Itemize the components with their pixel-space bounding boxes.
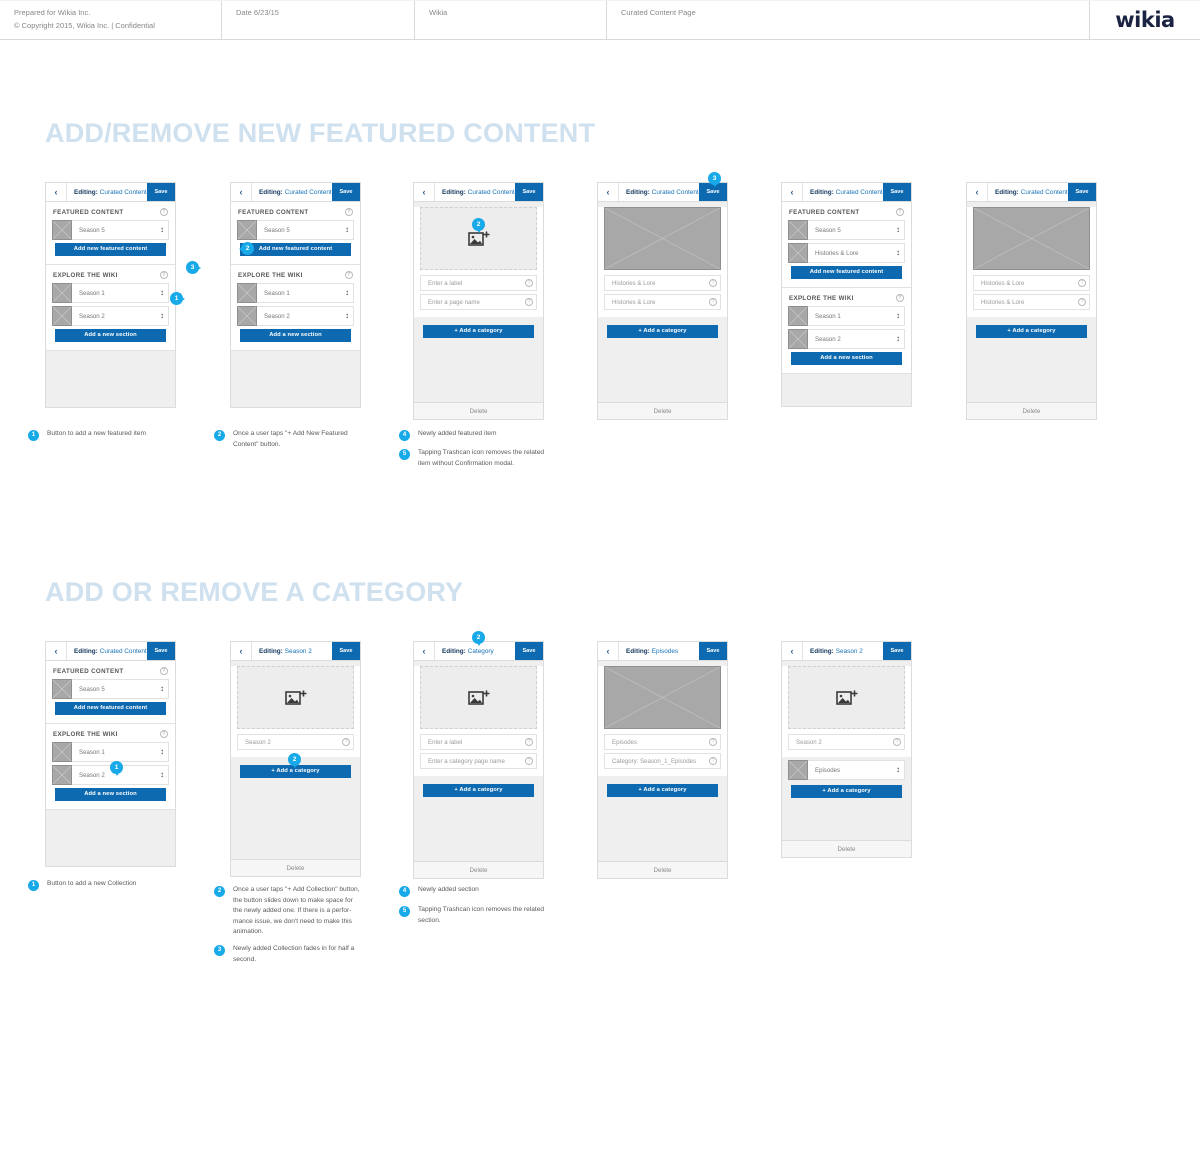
panel-heading-label: EXPLORE THE WIKI — [238, 272, 303, 279]
thumbnail-placeholder-icon — [52, 765, 72, 785]
thumbnail-placeholder-icon — [237, 306, 257, 326]
panel-heading-explore: EXPLORE THE WIKI ? — [782, 288, 911, 306]
annotation-number: 4 — [399, 886, 410, 897]
page-name-input[interactable]: Histories & Lore ? — [973, 294, 1090, 310]
editing-target: Category — [468, 648, 494, 655]
image-upload-placeholder[interactable] — [237, 666, 354, 729]
label-input[interactable]: Enter a label ? — [420, 734, 537, 750]
editing-target: Curated Content — [285, 189, 332, 196]
editing-target: Curated Content — [100, 189, 147, 196]
question-mark-icon[interactable]: ? — [1078, 298, 1086, 306]
delete-button[interactable]: Delete — [414, 861, 543, 878]
header-date-cell: Date 6/23/15 — [222, 1, 415, 39]
editing-prefix: Editing: — [74, 189, 98, 196]
page-name-input[interactable]: Enter a page name ? — [420, 294, 537, 310]
add-new-section-button[interactable]: Add a new section — [791, 352, 902, 365]
nav-title: Editing: Curated Content — [67, 642, 147, 660]
document-header: Prepared for Wikia Inc. © Copyright 2015… — [0, 0, 1200, 40]
header-page-cell: Curated Content Page — [607, 1, 1090, 39]
panel-heading-label: FEATURED CONTENT — [53, 209, 123, 216]
save-button[interactable]: Save — [1068, 183, 1096, 201]
question-mark-icon[interactable]: ? — [709, 298, 717, 306]
label-input[interactable]: Season 2 ? — [788, 734, 905, 750]
list-item-label: Season 2 — [72, 313, 156, 320]
list-item-label: Season 5 — [72, 686, 156, 693]
phone-navbar: ‹ Editing: Curated Content Save — [231, 183, 360, 202]
save-button[interactable]: Save — [883, 642, 911, 660]
thumbnail-placeholder-icon — [52, 679, 72, 699]
phone-mockup-9: ‹ Editing: Category Save Enter a label ?… — [413, 641, 544, 879]
back-chevron-icon[interactable]: ‹ — [598, 642, 619, 660]
list-item-label: Season 5 — [257, 227, 341, 234]
editing-target: Curated Content — [1021, 189, 1068, 196]
category-page-name-placeholder: Enter a category page name — [421, 758, 522, 765]
delete-button[interactable]: Delete — [782, 840, 911, 857]
empty-area — [967, 340, 1096, 402]
list-item[interactable]: Season 1 ↕ — [237, 283, 354, 303]
back-chevron-icon[interactable]: ‹ — [414, 642, 435, 660]
drag-handle-icon[interactable]: ↕ — [341, 226, 353, 234]
thumbnail-placeholder-icon — [788, 760, 808, 780]
prepared-for-text: Prepared for Wikia Inc. — [14, 7, 213, 20]
editing-target: Episodes — [652, 648, 678, 655]
editing-target: Season 2 — [836, 648, 863, 655]
phone-mockup-5: ‹ Editing: Curated Content Save FEATURED… — [781, 182, 912, 407]
category-page-name-input[interactable]: Enter a category page name ? — [420, 753, 537, 769]
section-title-add-remove-category: ADD OR REMOVE A CATEGORY — [45, 577, 463, 608]
thumbnail-placeholder-icon — [788, 220, 808, 240]
explore-wiki-panel: EXPLORE THE WIKI ? Season 1 ↕ Season 2 ↕… — [46, 265, 175, 351]
phone-navbar: ‹ Editing: Curated Content Save — [598, 183, 727, 202]
back-chevron-icon[interactable]: ‹ — [598, 183, 619, 201]
page-name-input-value: Histories & Lore — [605, 299, 706, 306]
phone-mockup-4: ‹ Editing: Curated Content Save Historie… — [597, 182, 728, 420]
featured-content-panel: FEATURED CONTENT ? Season 5 ↕ Add new fe… — [231, 202, 360, 265]
phone-navbar: ‹ Editing: Episodes Save — [598, 642, 727, 661]
thumbnail-placeholder-icon — [237, 283, 257, 303]
nav-title: Editing: Curated Content — [252, 183, 332, 201]
panel-heading-label: EXPLORE THE WIKI — [53, 272, 118, 279]
list-item-label: Season 1 — [72, 290, 156, 297]
empty-area — [231, 351, 360, 407]
editing-prefix: Editing: — [442, 189, 466, 196]
phone-navbar: ‹ Editing: Curated Content Save — [414, 183, 543, 202]
annotation-note-4: 4 Newly added section — [399, 885, 549, 897]
question-mark-icon[interactable]: ? — [896, 208, 904, 216]
save-button[interactable]: Save — [332, 183, 360, 201]
thumbnail-placeholder-icon — [52, 220, 72, 240]
save-button[interactable]: Save — [147, 642, 175, 660]
delete-button[interactable]: Delete — [414, 402, 543, 419]
back-chevron-icon[interactable]: ‹ — [231, 183, 252, 201]
annotation-number: 5 — [399, 449, 410, 460]
question-mark-icon[interactable]: ? — [160, 730, 168, 738]
drag-handle-icon[interactable]: ↕ — [156, 289, 168, 297]
question-mark-icon[interactable]: ? — [525, 279, 533, 287]
annotation-note-5: 5 Tapping Trashcan icon removes the rela… — [399, 448, 554, 469]
drag-handle-icon[interactable]: ↕ — [156, 685, 168, 693]
image-preview[interactable] — [973, 207, 1090, 270]
editing-prefix: Editing: — [442, 648, 466, 655]
list-item[interactable]: Season 1 ↕ — [52, 742, 169, 762]
editing-target: Season 2 — [285, 648, 312, 655]
drag-handle-icon[interactable]: ↕ — [892, 226, 904, 234]
list-item-label: Season 2 — [257, 313, 341, 320]
thumbnail-placeholder-icon — [788, 306, 808, 326]
page-name-input-placeholder: Enter a page name — [421, 299, 522, 306]
annotation-text: Tapping Trashcan icon removes the relate… — [410, 448, 554, 469]
drag-handle-icon[interactable]: ↕ — [156, 226, 168, 234]
annotation-note-5: 5 Tapping Trashcan icon removes the rela… — [399, 905, 554, 926]
callout-marker-1: 1 — [170, 292, 183, 305]
nav-title: Editing: Curated Content — [988, 183, 1068, 201]
question-mark-icon[interactable]: ? — [342, 738, 350, 746]
callout-marker-2: 2 — [241, 242, 254, 255]
annotation-note-2: 2 Once a user taps "+ Add Collection" bu… — [214, 885, 360, 938]
category-page-name-value: Category: Season_1_Episodes — [605, 758, 706, 765]
nav-title: Editing: Season 2 — [252, 642, 332, 660]
page-title-text: Curated Content Page — [621, 7, 1081, 20]
label-input-value: Episodes — [605, 739, 706, 746]
annotation-text: Newly added section — [410, 885, 479, 896]
annotation-note-1: 1 Button to add a new featured item — [28, 429, 208, 441]
label-input-value: Histories & Lore — [974, 280, 1075, 287]
annotation-text: Newly added Collection fades in for half… — [225, 944, 360, 965]
label-input[interactable]: Histories & Lore ? — [604, 275, 721, 291]
empty-area — [414, 799, 543, 861]
add-category-button[interactable]: + Add a category — [423, 784, 534, 797]
callout-marker-2: 2 — [288, 753, 301, 766]
question-mark-icon[interactable]: ? — [525, 757, 533, 765]
label-input[interactable]: Histories & Lore ? — [973, 275, 1090, 291]
label-input-placeholder: Enter a label — [421, 739, 522, 746]
editing-prefix: Editing: — [810, 189, 834, 196]
back-chevron-icon[interactable]: ‹ — [967, 183, 988, 201]
image-upload-placeholder[interactable] — [420, 666, 537, 729]
annotation-number: 1 — [28, 430, 39, 441]
client-text: Wikia — [429, 7, 598, 20]
list-item[interactable]: Season 5 ↕ — [237, 220, 354, 240]
list-item-label: Episodes — [808, 767, 892, 774]
question-mark-icon[interactable]: ? — [160, 667, 168, 675]
editing-prefix: Editing: — [74, 648, 98, 655]
empty-area — [46, 810, 175, 866]
list-item-label: Season 1 — [808, 313, 892, 320]
callout-marker-2: 2 — [472, 631, 485, 644]
panel-heading-label: FEATURED CONTENT — [238, 209, 308, 216]
category-page-name-input[interactable]: Category: Season_1_Episodes ? — [604, 753, 721, 769]
add-image-icon — [836, 689, 858, 707]
panel-heading-label: EXPLORE THE WIKI — [53, 731, 118, 738]
add-featured-content-button[interactable]: Add new featured content — [791, 266, 902, 279]
editing-target: Curated Content — [100, 648, 147, 655]
featured-content-panel: FEATURED CONTENT ? Season 5 ↕ Histories … — [782, 202, 911, 288]
image-upload-placeholder[interactable] — [788, 666, 905, 729]
image-preview[interactable] — [604, 666, 721, 729]
phone-mockup-6: ‹ Editing: Curated Content Save Historie… — [966, 182, 1097, 420]
nav-title: Editing: Curated Content — [803, 183, 883, 201]
add-featured-content-button[interactable]: Add new featured content — [55, 243, 166, 256]
save-button[interactable]: Save — [332, 642, 360, 660]
add-category-button[interactable]: + Add a category — [607, 325, 718, 338]
empty-area — [231, 780, 360, 859]
phone-mockup-10: ‹ Editing: Episodes Save Episodes ? Cate… — [597, 641, 728, 879]
annotation-number: 2 — [214, 430, 225, 441]
list-item-label: Season 5 — [72, 227, 156, 234]
list-item[interactable]: Season 1 ↕ — [52, 283, 169, 303]
list-item-label: Season 2 — [808, 336, 892, 343]
label-input[interactable]: Enter a label ? — [420, 275, 537, 291]
question-mark-icon[interactable]: ? — [1078, 279, 1086, 287]
question-mark-icon[interactable]: ? — [525, 298, 533, 306]
panel-heading-label: FEATURED CONTENT — [789, 209, 859, 216]
annotation-text: Button to add a new Collection — [39, 879, 136, 890]
save-button[interactable]: Save — [883, 183, 911, 201]
drag-handle-icon[interactable]: ↕ — [341, 289, 353, 297]
thumbnail-placeholder-icon — [52, 283, 72, 303]
phone-navbar: ‹ Editing: Curated Content Save — [967, 183, 1096, 202]
list-item[interactable]: Season 2 ↕ — [788, 329, 905, 349]
annotation-note-1: 1 Button to add a new Collection — [28, 879, 208, 891]
phone-navbar: ‹ Editing: Curated Content Save — [46, 642, 175, 661]
editing-prefix: Editing: — [995, 189, 1019, 196]
phone-navbar: ‹ Editing: Season 2 Save — [782, 642, 911, 661]
nav-title: Editing: Episodes — [619, 642, 699, 660]
list-item-label: Season 5 — [808, 227, 892, 234]
featured-content-panel: FEATURED CONTENT ? Season 5 ↕ Add new fe… — [46, 661, 175, 724]
list-item[interactable]: Season 5 ↕ — [52, 220, 169, 240]
question-mark-icon[interactable]: ? — [709, 738, 717, 746]
add-new-section-button[interactable]: Add a new section — [240, 329, 351, 342]
thumbnail-placeholder-icon — [52, 742, 72, 762]
label-input-value: Histories & Lore — [605, 280, 706, 287]
wikia-logo-text: wikia — [1115, 8, 1174, 32]
nav-title: Editing: Curated Content — [619, 183, 699, 201]
page-name-input-value: Histories & Lore — [974, 299, 1075, 306]
question-mark-icon[interactable]: ? — [345, 208, 353, 216]
panel-heading-featured: FEATURED CONTENT ? — [231, 202, 360, 220]
callout-marker-3: 3 — [186, 261, 199, 274]
phone-mockup-11: ‹ Editing: Season 2 Save Season 2 ? Epis… — [781, 641, 912, 858]
annotation-text: Once a user taps "+ Add Collection" butt… — [225, 885, 360, 938]
list-item[interactable]: Histories & Lore ↕ — [788, 243, 905, 263]
nav-title: Editing: Curated Content — [435, 183, 515, 201]
drag-handle-icon[interactable]: ↕ — [892, 312, 904, 320]
phone-navbar: ‹ Editing: Season 2 Save — [231, 642, 360, 661]
explore-wiki-panel: EXPLORE THE WIKI ? Season 1 ↕ Season 2 ↕… — [231, 265, 360, 351]
list-item[interactable]: Season 2 ↕ — [52, 306, 169, 326]
list-item[interactable]: Season 2 ↕ — [237, 306, 354, 326]
label-input[interactable]: Episodes ? — [604, 734, 721, 750]
empty-area — [46, 351, 175, 407]
annotation-number: 4 — [399, 430, 410, 441]
label-input[interactable]: Season 2 ? — [237, 734, 354, 750]
page-name-input[interactable]: Histories & Lore ? — [604, 294, 721, 310]
callout-marker-2: 2 — [472, 218, 485, 231]
annotation-note-4: 4 Newly added featured item — [399, 429, 549, 441]
annotation-text: Button to add a new featured item — [39, 429, 146, 440]
phone-navbar: ‹ Editing: Curated Content Save — [46, 183, 175, 202]
thumbnail-placeholder-icon — [237, 220, 257, 240]
editing-prefix: Editing: — [259, 648, 283, 655]
save-button[interactable]: Save — [699, 642, 727, 660]
wikia-logo: wikia — [1090, 1, 1200, 39]
drag-handle-icon[interactable]: ↕ — [156, 771, 168, 779]
thumbnail-placeholder-icon — [52, 306, 72, 326]
add-featured-content-button[interactable]: Add new featured content — [55, 702, 166, 715]
save-button[interactable]: Save — [515, 642, 543, 660]
editing-target: Curated Content — [836, 189, 883, 196]
panel-heading-featured: FEATURED CONTENT ? — [46, 202, 175, 220]
question-mark-icon[interactable]: ? — [709, 757, 717, 765]
panel-heading-label: EXPLORE THE WIKI — [789, 295, 854, 302]
back-chevron-icon[interactable]: ‹ — [782, 183, 803, 201]
add-category-button[interactable]: + Add a category — [607, 784, 718, 797]
label-input-value: Season 2 — [238, 739, 339, 746]
panel-heading-explore: EXPLORE THE WIKI ? — [46, 724, 175, 742]
question-mark-icon[interactable]: ? — [893, 738, 901, 746]
drag-handle-icon[interactable]: ↕ — [156, 312, 168, 320]
phone-mockup-1: ‹ Editing: Curated Content Save FEATURED… — [45, 182, 176, 408]
phone-mockup-7: ‹ Editing: Curated Content Save FEATURED… — [45, 641, 176, 867]
thumbnail-placeholder-icon — [788, 243, 808, 263]
list-item[interactable]: Season 1 ↕ — [788, 306, 905, 326]
back-chevron-icon[interactable]: ‹ — [782, 642, 803, 660]
editing-prefix: Editing: — [810, 648, 834, 655]
callout-marker-1: 1 — [110, 761, 123, 774]
question-mark-icon[interactable]: ? — [160, 208, 168, 216]
section-title-featured-content: ADD/REMOVE NEW FEATURED CONTENT — [45, 118, 595, 149]
explore-wiki-panel: EXPLORE THE WIKI ? Season 1 ↕ Season 2 ↕… — [782, 288, 911, 374]
annotation-number: 1 — [28, 880, 39, 891]
empty-area — [782, 800, 911, 840]
drag-handle-icon[interactable]: ↕ — [892, 766, 904, 774]
delete-button[interactable]: Delete — [598, 861, 727, 878]
panel-heading-explore: EXPLORE THE WIKI ? — [46, 265, 175, 283]
list-item-label: Season 1 — [257, 290, 341, 297]
back-chevron-icon[interactable]: ‹ — [46, 183, 67, 201]
panel-heading-explore: EXPLORE THE WIKI ? — [231, 265, 360, 283]
empty-area — [598, 340, 727, 402]
save-button[interactable]: Save — [515, 183, 543, 201]
add-category-button[interactable]: + Add a category — [976, 325, 1087, 338]
annotation-number: 5 — [399, 906, 410, 917]
question-mark-icon[interactable]: ? — [709, 279, 717, 287]
drag-handle-icon[interactable]: ↕ — [341, 312, 353, 320]
label-input-placeholder: Enter a label — [421, 280, 522, 287]
add-category-button[interactable]: + Add a category — [791, 785, 902, 798]
thumbnail-placeholder-icon — [788, 329, 808, 349]
add-new-section-button[interactable]: Add a new section — [55, 329, 166, 342]
add-featured-content-button[interactable]: Add new featured content — [240, 243, 351, 256]
editing-target: Curated Content — [652, 189, 699, 196]
panel-heading-label: FEATURED CONTENT — [53, 668, 123, 675]
panel-heading-featured: FEATURED CONTENT ? — [46, 661, 175, 679]
featured-content-panel: FEATURED CONTENT ? Season 5 ↕ Add new fe… — [46, 202, 175, 265]
add-image-icon — [468, 689, 490, 707]
question-mark-icon[interactable]: ? — [896, 294, 904, 302]
question-mark-icon[interactable]: ? — [525, 738, 533, 746]
empty-area — [782, 374, 911, 406]
delete-button[interactable]: Delete — [967, 402, 1096, 419]
add-new-section-button[interactable]: Add a new section — [55, 788, 166, 801]
image-preview[interactable] — [604, 207, 721, 270]
empty-area — [598, 799, 727, 861]
editing-target: Curated Content — [468, 189, 515, 196]
copyright-text: © Copyright 2015, Wikia Inc. | Confident… — [14, 20, 213, 33]
nav-title: Editing: Season 2 — [803, 642, 883, 660]
drag-handle-icon[interactable]: ↕ — [156, 748, 168, 756]
back-chevron-icon[interactable]: ‹ — [414, 183, 435, 201]
list-item[interactable]: Season 5 ↕ — [52, 679, 169, 699]
editing-prefix: Editing: — [626, 189, 650, 196]
header-prepared-cell: Prepared for Wikia Inc. © Copyright 2015… — [0, 1, 222, 39]
annotation-text: Once a user taps "+ Add New Featured Con… — [225, 429, 359, 450]
image-upload-placeholder[interactable] — [420, 207, 537, 270]
list-item[interactable]: Episodes ↕ — [788, 760, 905, 780]
list-item-label: Histories & Lore — [808, 250, 892, 257]
empty-area — [414, 340, 543, 402]
annotation-note-3: 3 Newly added Collection fades in for ha… — [214, 944, 360, 965]
phone-mockup-2: ‹ Editing: Curated Content Save FEATURED… — [230, 182, 361, 408]
phone-navbar: ‹ Editing: Curated Content Save — [782, 183, 911, 202]
drag-handle-icon[interactable]: ↕ — [892, 249, 904, 257]
question-mark-icon[interactable]: ? — [160, 271, 168, 279]
list-item[interactable]: Season 5 ↕ — [788, 220, 905, 240]
editing-prefix: Editing: — [626, 648, 650, 655]
delete-button[interactable]: Delete — [231, 859, 360, 876]
question-mark-icon[interactable]: ? — [345, 271, 353, 279]
drag-handle-icon[interactable]: ↕ — [892, 335, 904, 343]
editing-prefix: Editing: — [259, 189, 283, 196]
panel-heading-featured: FEATURED CONTENT ? — [782, 202, 911, 220]
add-image-icon — [285, 689, 307, 707]
delete-button[interactable]: Delete — [598, 402, 727, 419]
callout-marker-3: 3 — [708, 172, 721, 185]
annotation-number: 3 — [214, 945, 225, 956]
annotation-text: Newly added featured item — [410, 429, 496, 440]
label-input-value: Season 2 — [789, 739, 890, 746]
annotation-number: 2 — [214, 886, 225, 897]
add-category-button[interactable]: + Add a category — [423, 325, 534, 338]
save-button[interactable]: Save — [147, 183, 175, 201]
list-item-label: Season 1 — [72, 749, 156, 756]
annotation-text: Tapping Trashcan icon removes the relate… — [410, 905, 554, 926]
back-chevron-icon[interactable]: ‹ — [46, 642, 67, 660]
header-client-cell: Wikia — [415, 1, 607, 39]
annotation-note-2: 2 Once a user taps "+ Add New Featured C… — [214, 429, 359, 450]
date-text: Date 6/23/15 — [236, 7, 406, 20]
back-chevron-icon[interactable]: ‹ — [231, 642, 252, 660]
nav-title: Editing: Curated Content — [67, 183, 147, 201]
